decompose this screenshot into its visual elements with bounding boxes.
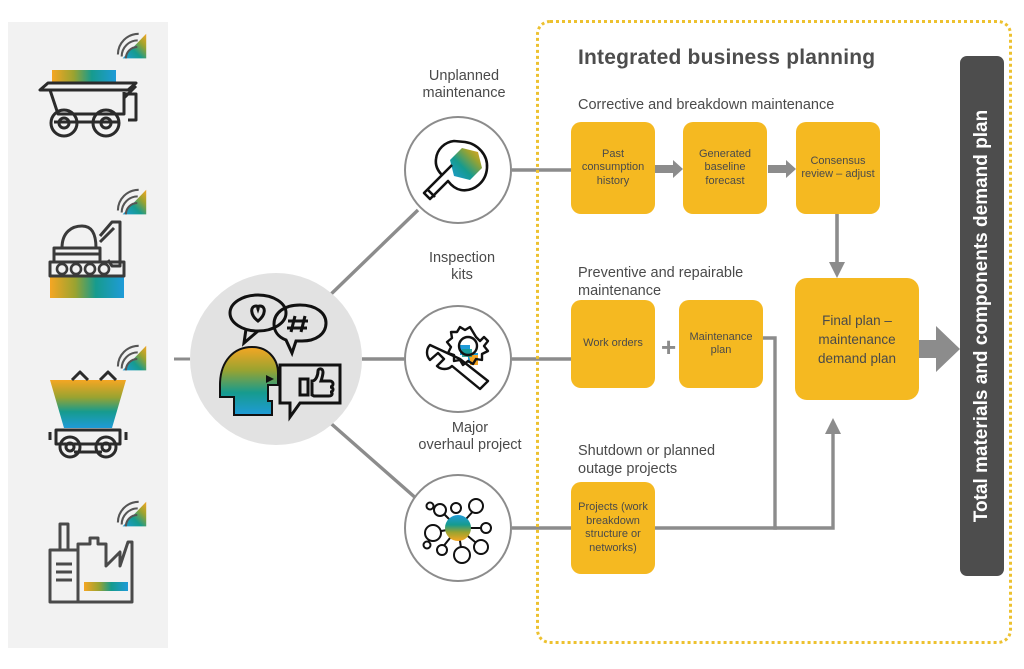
section-heading-preventive: Preventive and repairable maintenance bbox=[578, 264, 743, 300]
gear-wrench-icon bbox=[418, 319, 498, 399]
category-circle-inspection-kits[interactable] bbox=[404, 305, 512, 413]
plus-symbol: + bbox=[661, 334, 676, 360]
section-heading-corrective: Corrective and breakdown maintenance bbox=[578, 96, 834, 114]
network-nodes-icon bbox=[418, 488, 498, 568]
category-label-unplanned-maintenance: Unplanned maintenance bbox=[394, 68, 534, 102]
node-final-plan[interactable]: Final plan – maintenance demand plan bbox=[795, 278, 919, 400]
node-consensus-review-adjust[interactable]: Consensus review – adjust bbox=[796, 122, 880, 214]
node-work-orders[interactable]: Work orders bbox=[571, 300, 655, 388]
head-with-speech-bubbles-icon bbox=[204, 289, 348, 429]
node-maintenance-plan[interactable]: Maintenance plan bbox=[679, 300, 763, 388]
section-heading-shutdown: Shutdown or planned outage projects bbox=[578, 442, 715, 478]
category-label-inspection-kits: Inspection kits bbox=[396, 250, 528, 284]
node-past-consumption-history[interactable]: Past consumption history bbox=[571, 122, 655, 214]
demand-plan-banner: Total materials and components demand pl… bbox=[960, 56, 1004, 576]
demand-plan-banner-label: Total materials and components demand pl… bbox=[960, 56, 1004, 576]
category-label-major-overhaul-project: Major overhaul project bbox=[386, 420, 554, 454]
node-projects-wbs[interactable]: Projects (work breakdown structure or ne… bbox=[571, 482, 655, 574]
node-generated-baseline-forecast[interactable]: Generated baseline forecast bbox=[683, 122, 767, 214]
hub-circle[interactable] bbox=[190, 273, 362, 445]
wrench-icon bbox=[418, 130, 498, 210]
ibp-title: Integrated business planning bbox=[578, 46, 875, 70]
category-circle-unplanned-maintenance[interactable] bbox=[404, 116, 512, 224]
category-circle-major-overhaul-project[interactable] bbox=[404, 474, 512, 582]
